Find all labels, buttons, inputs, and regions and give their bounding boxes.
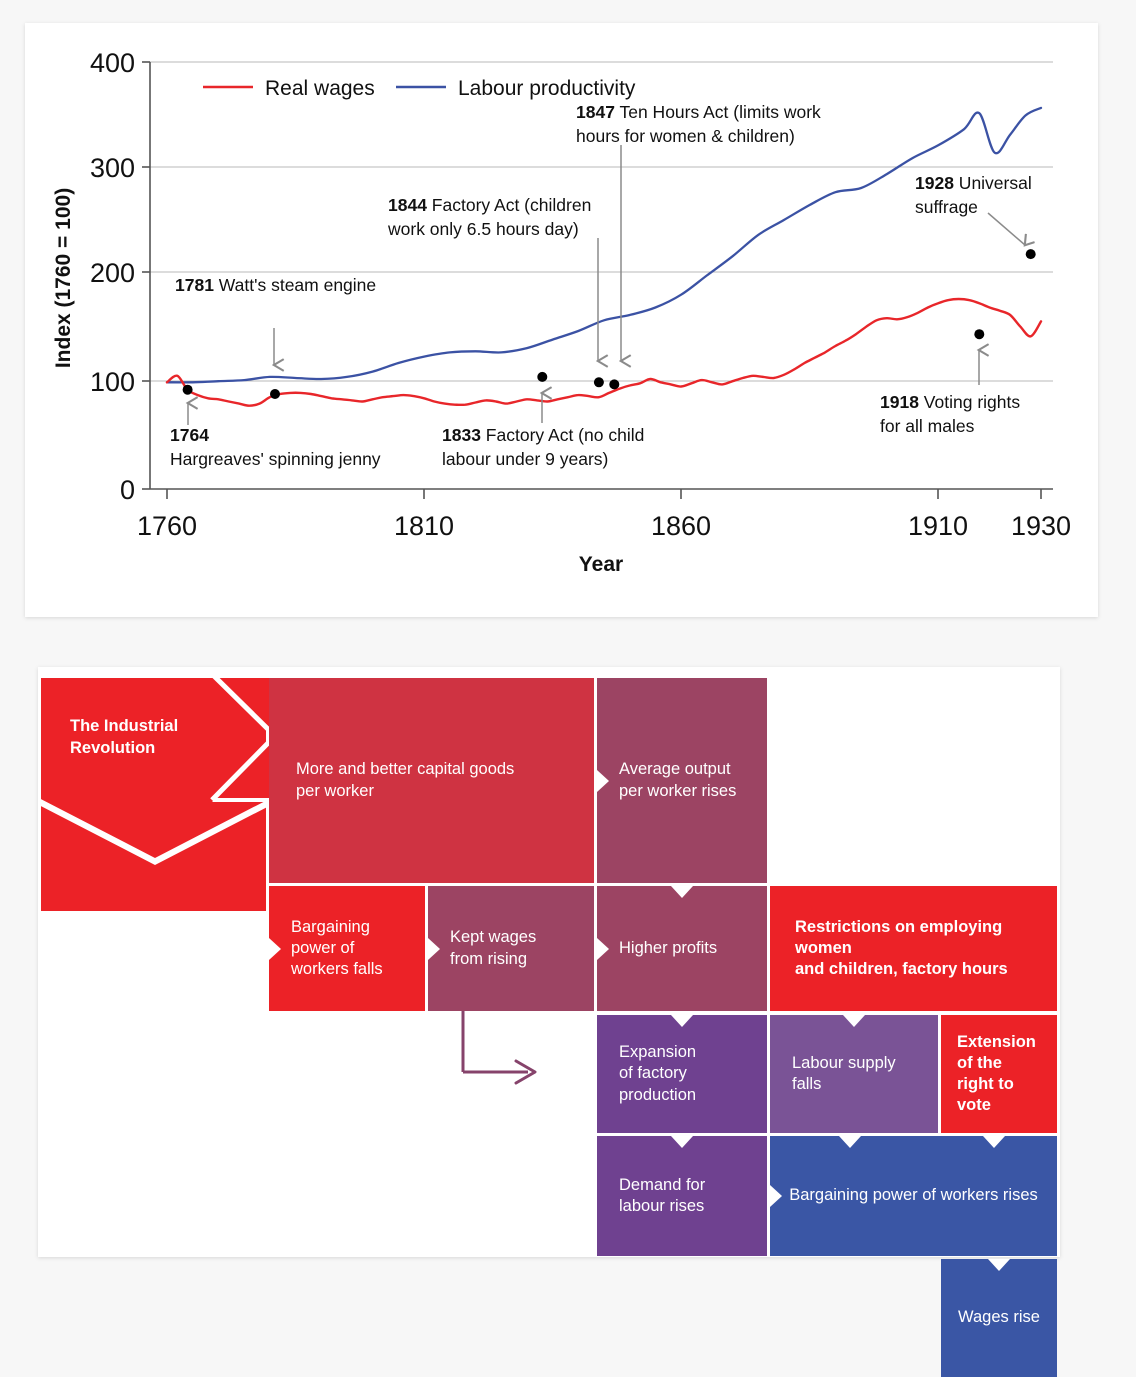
ytick-400: 400: [90, 48, 135, 78]
marker-1847: [609, 379, 619, 389]
marker-1833: [537, 372, 547, 382]
annotation-1847-line1: 1847 Ten Hours Act (limits work: [576, 102, 821, 122]
legend-label-real-wages: Real wages: [265, 77, 375, 100]
industrial-revolution-flowchart: The Industrial Revolution More and bette…: [38, 667, 1060, 1257]
flow-label-average-output: Average output per worker rises: [619, 759, 736, 801]
ytick-0: 0: [120, 475, 135, 505]
chart-legend: Real wages Labour productivity: [203, 77, 636, 100]
annotation-1781: 1781 Watt's steam engine: [175, 275, 376, 295]
xtick-1910: 1910: [908, 511, 968, 541]
flow-box-right-to-vote[interactable]: Extension of the right to vote: [941, 1015, 1057, 1133]
xtick-1810: 1810: [394, 511, 454, 541]
flowchart-card: The Industrial Revolution More and bette…: [38, 667, 1060, 1257]
xtick-1860: 1860: [651, 511, 711, 541]
flow-label-expansion-factory: Expansion of factory production: [619, 1042, 696, 1105]
chevron-down-icon: [839, 1136, 861, 1148]
ytick-100: 100: [90, 367, 135, 397]
flow-box-industrial-revolution[interactable]: The Industrial Revolution: [41, 678, 226, 797]
annotation-1764-line1: 1764: [170, 425, 209, 445]
chevron-down-icon: [671, 886, 693, 898]
xtick-1760: 1760: [137, 511, 197, 541]
flow-label-bargaining-power-rises: Bargaining power of workers rises: [789, 1185, 1038, 1206]
flow-label-wages-rise: Wages rise: [958, 1307, 1040, 1328]
annotation-1928-line2: suffrage: [915, 197, 978, 217]
flow-box-higher-profits[interactable]: Higher profits: [597, 886, 767, 1011]
flow-box-displaced-workers[interactable]: Displaced workers: [41, 886, 226, 1011]
flow-box-restrictions[interactable]: Restrictions on employing women and chil…: [770, 886, 1057, 1011]
annotation-1847-line2: hours for women & children): [576, 126, 795, 146]
flow-box-bargaining-power-falls[interactable]: Bargaining power of workers falls: [269, 886, 425, 1011]
legend-label-labour-productivity: Labour productivity: [458, 77, 636, 100]
chevron-down-icon: [671, 1015, 693, 1027]
wages-productivity-chart: 400 300 200 100 0 1760 1810 1860 1910 19…: [25, 23, 1098, 617]
flow-box-labour-supply-falls[interactable]: Labour supply falls: [770, 1015, 938, 1133]
flow-label-higher-profits: Higher profits: [619, 938, 717, 959]
marker-1928: [1026, 249, 1036, 259]
ytick-300: 300: [90, 153, 135, 183]
flow-label-bargaining-power-falls: Bargaining power of workers falls: [291, 917, 383, 980]
chart-card: 400 300 200 100 0 1760 1810 1860 1910 19…: [25, 23, 1098, 617]
chevron-down-icon-2: [983, 1136, 1005, 1148]
annotation-1833-line2: labour under 9 years): [442, 449, 608, 469]
chevron-left-icon: [770, 1185, 782, 1207]
annotation-1918-line1: 1918 Voting rights: [880, 392, 1020, 412]
flow-label-kept-wages: Kept wages from rising: [450, 927, 536, 969]
flow-label-demand-labour-rises: Demand for labour rises: [619, 1175, 705, 1217]
annotation-1833-line1: 1833 Factory Act (no child: [442, 425, 644, 445]
flow-label-labour-supply-falls: Labour supply falls: [792, 1053, 896, 1095]
chevron-left-icon: [597, 770, 609, 792]
annotation-1918-line2: for all males: [880, 416, 975, 436]
x-axis-title: Year: [579, 553, 623, 576]
annotation-1844-line1: 1844 Factory Act (children: [388, 195, 591, 215]
flow-box-expansion-factory[interactable]: Expansion of factory production: [597, 1015, 767, 1133]
flow-box-demand-labour-rises[interactable]: Demand for labour rises: [597, 1136, 767, 1256]
chevron-left-icon: [269, 938, 281, 960]
chevron-left-icon: [428, 938, 440, 960]
chevron-down-icon: [843, 1015, 865, 1027]
marker-1781: [270, 389, 280, 399]
flow-box-wages-rise[interactable]: Wages rise: [941, 1259, 1057, 1377]
flow-box-capital-goods[interactable]: More and better capital goods per worker: [269, 678, 594, 883]
series-real-wages: [167, 299, 1041, 406]
chevron-left-icon: [597, 938, 609, 960]
chevron-down-icon: [988, 1259, 1010, 1271]
flow-box-kept-wages[interactable]: Kept wages from rising: [428, 886, 594, 1011]
marker-1764: [183, 385, 193, 395]
y-axis-title: Index (1760 = 100): [52, 188, 75, 368]
flow-box-average-output[interactable]: Average output per worker rises: [597, 678, 767, 883]
xtick-1930: 1930: [1011, 511, 1071, 541]
arrow-1928: [988, 213, 1025, 245]
ytick-200: 200: [90, 258, 135, 288]
annotation-1844-line2: work only 6.5 hours day): [387, 219, 579, 239]
chevron-down-icon: [671, 1136, 693, 1148]
marker-1844: [594, 377, 604, 387]
flow-box-bargaining-power-rises[interactable]: Bargaining power of workers rises: [770, 1136, 1057, 1256]
annotation-1928-line1: 1928 Universal: [915, 173, 1032, 193]
series-labour-productivity: [167, 108, 1041, 382]
marker-1918: [974, 329, 984, 339]
annotation-1764-line2: Hargreaves' spinning jenny: [170, 449, 381, 469]
